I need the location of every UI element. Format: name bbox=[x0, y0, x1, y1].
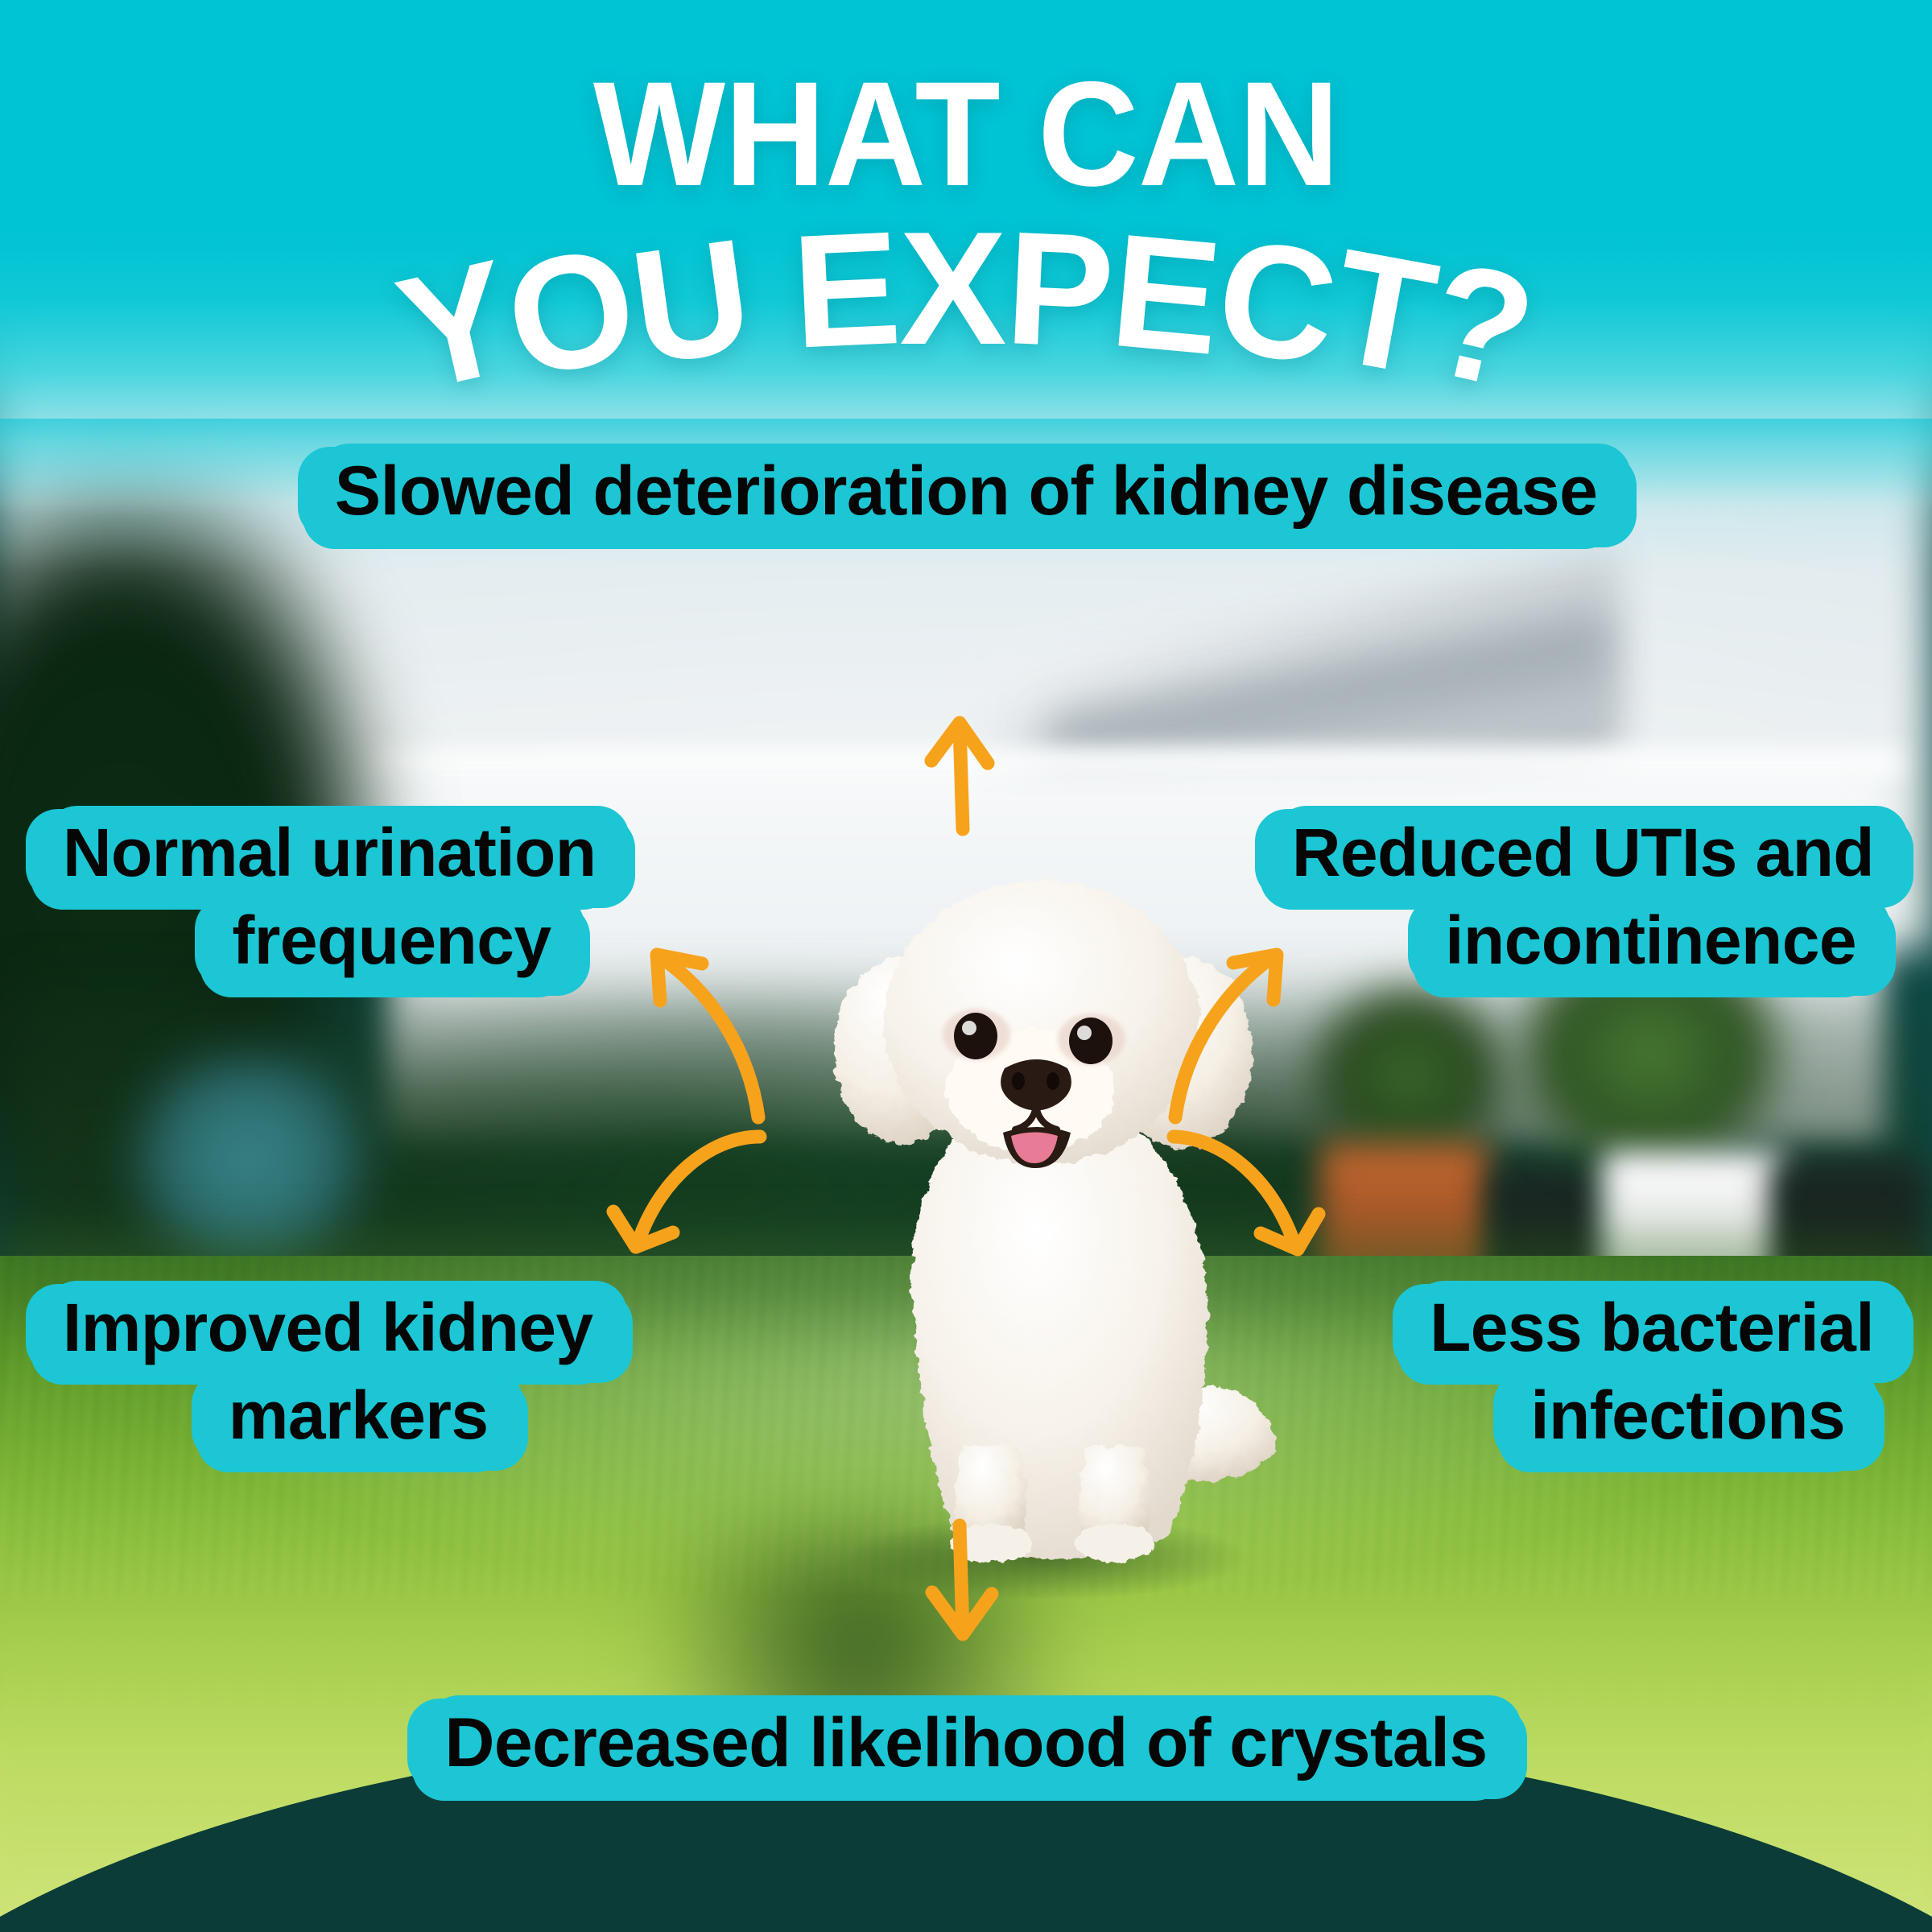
page-title: WHAT CAN YOU EXPECT? bbox=[0, 64, 1932, 366]
callout-line: Decreased likelihood of crystals bbox=[423, 1699, 1508, 1793]
callout-text: Decreased likelihood of crystals bbox=[423, 1699, 1508, 1793]
callout-left-lower[interactable]: Improved kidney markers bbox=[42, 1284, 614, 1459]
callout-text: markers bbox=[208, 1372, 510, 1464]
callout-text: Improved kidney bbox=[42, 1284, 614, 1377]
callout-line: Normal urination bbox=[42, 809, 617, 902]
callout-line: incontinence bbox=[1424, 897, 1877, 989]
title-line-1: WHAT CAN bbox=[58, 64, 1874, 207]
title-char: U bbox=[623, 218, 758, 387]
title-char: E bbox=[790, 211, 903, 370]
callout-right-upper[interactable]: Reduced UTIs and incontinence bbox=[1271, 809, 1895, 985]
callout-text: Less bacterial bbox=[1409, 1284, 1895, 1377]
title-char: P bbox=[1002, 211, 1116, 370]
callout-bottom[interactable]: Decreased likelihood of crystals bbox=[0, 1699, 1932, 1788]
callout-text: Reduced UTIs and bbox=[1271, 809, 1895, 902]
title-char: X bbox=[899, 212, 1005, 366]
callout-text: infections bbox=[1509, 1372, 1866, 1464]
callout-line: Slowed deterioration of kidney disease bbox=[314, 447, 1619, 541]
callout-line: Less bacterial bbox=[1409, 1284, 1895, 1377]
callout-line: frequency bbox=[211, 897, 572, 989]
title-char: E bbox=[1106, 213, 1226, 377]
dog-photo-subject bbox=[805, 849, 1320, 1598]
callout-line: markers bbox=[208, 1372, 510, 1464]
callout-top[interactable]: Slowed deterioration of kidney disease bbox=[0, 447, 1932, 536]
callout-left-upper[interactable]: Normal urination frequency bbox=[42, 809, 617, 985]
title-line-2: YOU EXPECT? bbox=[0, 212, 1932, 366]
callout-right-lower[interactable]: Less bacterial infections bbox=[1409, 1284, 1895, 1459]
callout-text: incontinence bbox=[1424, 897, 1877, 989]
callout-text: frequency bbox=[211, 897, 572, 989]
fence-cap bbox=[370, 749, 1900, 776]
callout-line: Improved kidney bbox=[42, 1284, 614, 1377]
callout-text: Normal urination bbox=[42, 809, 617, 902]
callout-line: infections bbox=[1509, 1372, 1866, 1464]
infographic-poster: WHAT CAN YOU EXPECT? bbox=[0, 0, 1932, 1932]
callout-line: Reduced UTIs and bbox=[1271, 809, 1895, 902]
title-char: O bbox=[496, 225, 646, 400]
callout-text: Slowed deterioration of kidney disease bbox=[314, 447, 1619, 541]
